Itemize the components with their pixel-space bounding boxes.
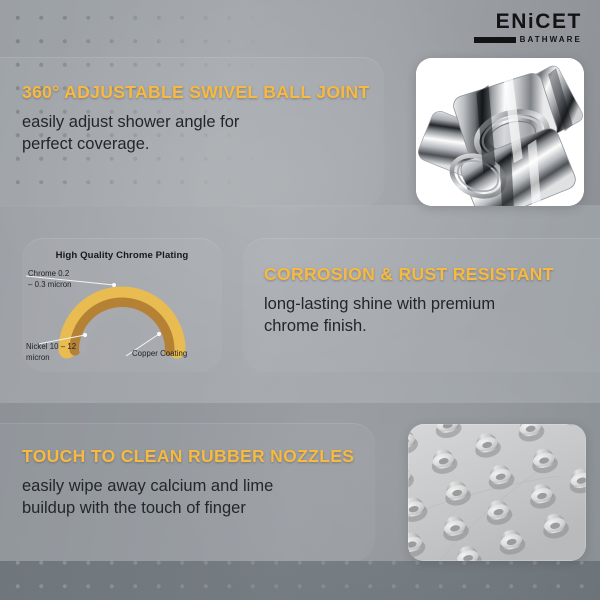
feature-block-rubber-nozzles: TOUCH TO CLEAN RUBBER NOZZLES easily wip…: [22, 446, 382, 519]
brand-logo-name-main: EN: [496, 10, 528, 33]
feature-body-corrosion-line1: long-lasting shine with premium: [264, 295, 495, 313]
feature-title-swivel: 360° ADJUSTABLE SWIVEL BALL JOINT: [22, 82, 402, 102]
feature-body-nozzles-line2: buildup with the touch of finger: [22, 499, 246, 517]
brand-logo: ENiCET BATHWARE: [472, 11, 582, 44]
feature-title-nozzles: TOUCH TO CLEAN RUBBER NOZZLES: [22, 446, 382, 466]
photo-swivel-ball-joint: [416, 58, 584, 206]
feature-body-corrosion: long-lasting shine with premium chrome f…: [264, 293, 584, 337]
feature-block-corrosion-resistant: CORROSION & RUST RESISTANT long-lasting …: [264, 264, 584, 337]
feature-block-swivel-ball-joint: 360° ADJUSTABLE SWIVEL BALL JOINT easily…: [22, 82, 402, 155]
feature-body-nozzles: easily wipe away calcium and lime buildu…: [22, 475, 382, 519]
brand-logo-name-tail: CET: [535, 10, 582, 33]
plating-label-copper: Copper Coating: [132, 348, 218, 359]
plating-label-chrome: Chrome 0.2 – 0.3 micron: [28, 268, 104, 290]
product-infographic: ENiCET BATHWARE 360° ADJUSTABLE SWIVEL B…: [0, 0, 600, 600]
brand-logo-tagline: BATHWARE: [520, 36, 582, 44]
photo-rubber-nozzles: [408, 424, 586, 561]
background-band-footer: [0, 561, 600, 600]
plating-label-nickel-line1: Nickel 10 – 12: [26, 342, 76, 351]
swivel-ball-joint-illustration: [416, 58, 584, 206]
feature-body-swivel: easily adjust shower angle for perfect c…: [22, 111, 402, 155]
brand-logo-wordmark: ENiCET: [472, 11, 582, 32]
brand-logo-subline: BATHWARE: [472, 36, 582, 44]
plating-label-nickel: Nickel 10 – 12 micron: [26, 341, 108, 363]
plating-label-nickel-line2: micron: [26, 353, 50, 362]
feature-body-swivel-line1: easily adjust shower angle for: [22, 113, 239, 131]
plating-label-chrome-line2: – 0.3 micron: [28, 280, 72, 289]
feature-body-swivel-line2: perfect coverage.: [22, 135, 150, 153]
brand-logo-bar: [474, 37, 516, 43]
plating-label-chrome-line1: Chrome 0.2: [28, 269, 69, 278]
feature-body-corrosion-line2: chrome finish.: [264, 317, 367, 335]
chrome-plating-diagram: High Quality Chrome Plating Chrome 0.2 –…: [22, 238, 222, 372]
feature-title-corrosion: CORROSION & RUST RESISTANT: [264, 264, 584, 284]
feature-body-nozzles-line1: easily wipe away calcium and lime: [22, 477, 273, 495]
rubber-nozzle-pattern-illustration: [408, 424, 586, 561]
